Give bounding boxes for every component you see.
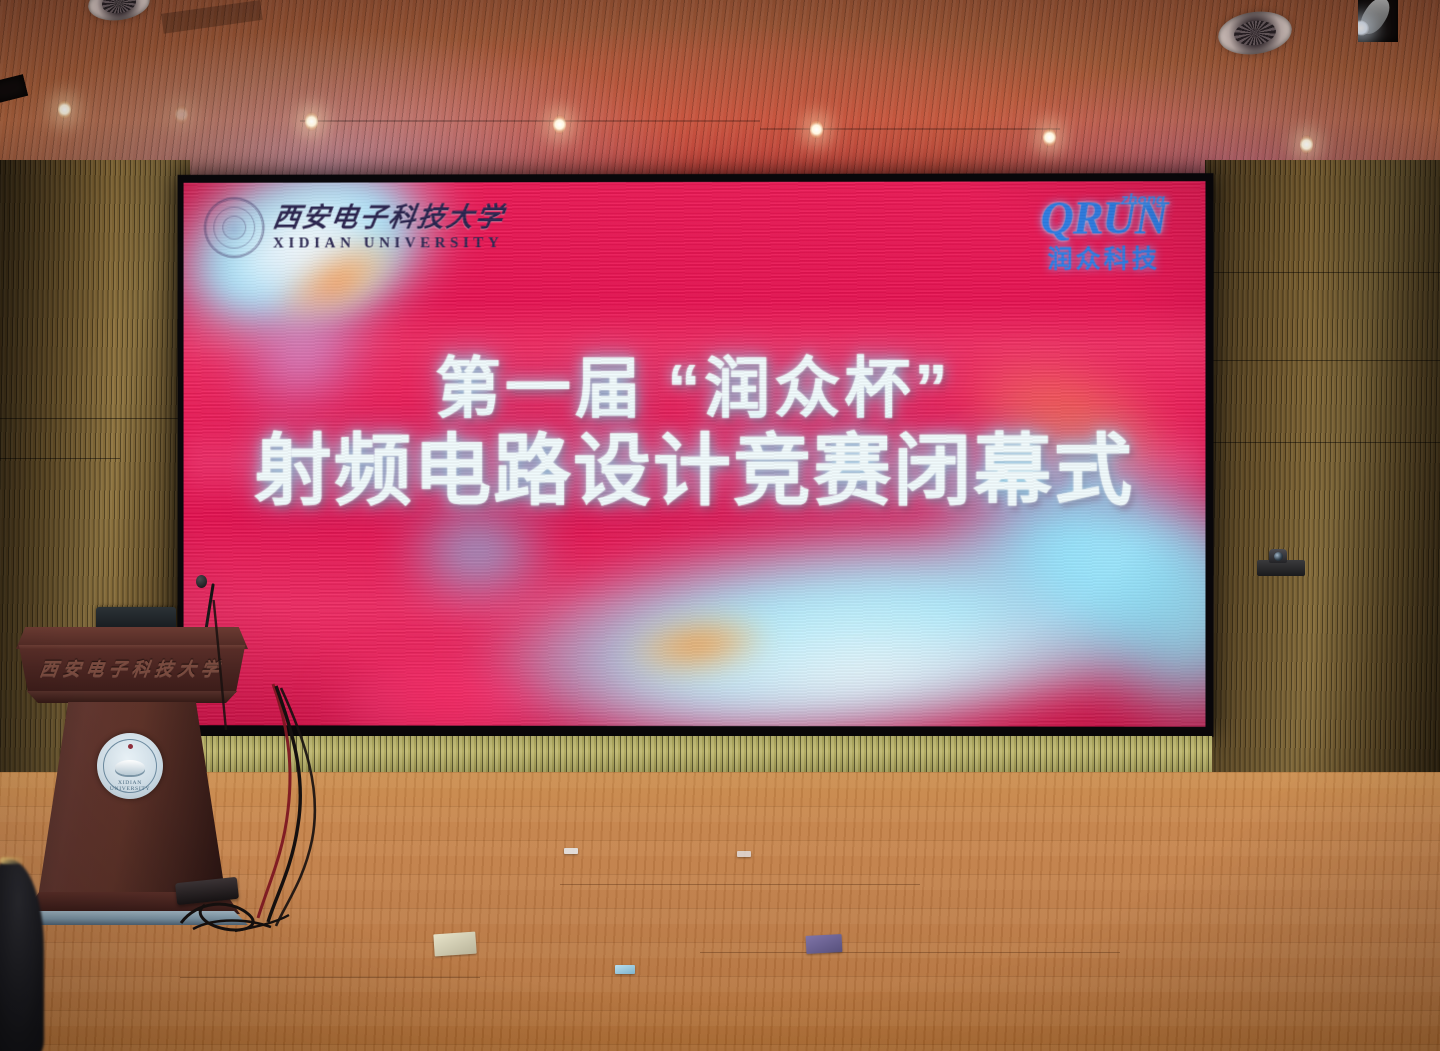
foreground-glint <box>0 857 26 864</box>
downlight-icon <box>1300 135 1313 154</box>
wall-camera-icon <box>1257 560 1305 576</box>
qrun-sponsor-logo: QRUN zhong 润众科技 <box>1040 195 1167 275</box>
qrun-chinese-name: 润众科技 <box>1040 239 1167 275</box>
floor-joint <box>700 952 1120 953</box>
floor-outlet-plate <box>433 932 476 957</box>
event-title: 第一届 “润众杯” 射频电路设计竞赛闭幕式 <box>184 354 1206 513</box>
floor-outlet-plate <box>806 934 843 954</box>
xidian-seal-icon <box>205 199 263 257</box>
wall-seam <box>1205 360 1440 361</box>
downlight-icon <box>810 120 823 139</box>
ceiling-seam <box>300 120 760 122</box>
wall-right <box>1205 160 1440 800</box>
downlight-icon <box>58 100 71 119</box>
ceiling <box>0 0 1440 185</box>
downlight-icon <box>305 112 318 131</box>
wall-seam <box>0 458 120 459</box>
floor-debris <box>564 848 578 854</box>
floor-debris <box>737 851 751 857</box>
downlight-icon <box>1043 128 1056 147</box>
wall-shading <box>1205 160 1440 800</box>
ceiling-light-slot <box>1358 0 1398 42</box>
wall-seam <box>0 418 190 419</box>
wall-seam <box>1205 272 1440 273</box>
spotlight-icon <box>1358 0 1395 39</box>
xidian-chinese-name: 西安电子科技大学 <box>271 204 506 231</box>
event-title-line-1: 第一届 “润众杯” <box>184 354 1206 424</box>
xidian-university-logo: 西安电子科技大学 XIDIAN UNIVERSITY <box>205 198 504 256</box>
microphone-icon <box>196 575 207 588</box>
downlight-icon <box>175 105 188 124</box>
xidian-wordmark: 西安电子科技大学 XIDIAN UNIVERSITY <box>273 204 504 251</box>
floor-joint <box>560 884 920 885</box>
ceiling-seam <box>760 128 1060 130</box>
coiled-cable <box>175 893 295 935</box>
floor-debris <box>615 965 635 974</box>
xidian-english-name: XIDIAN UNIVERSITY <box>273 236 504 251</box>
auditorium-photo: 西安电子科技大学 XIDIAN UNIVERSITY QRUN zhong 润众… <box>0 0 1440 1051</box>
wall-seam <box>1205 442 1440 443</box>
seal-petal <box>194 187 276 269</box>
downlight-icon <box>553 115 566 134</box>
qrun-superscript: zhong <box>1121 191 1165 208</box>
event-title-line-2: 射频电路设计竞赛闭幕式 <box>184 430 1206 513</box>
